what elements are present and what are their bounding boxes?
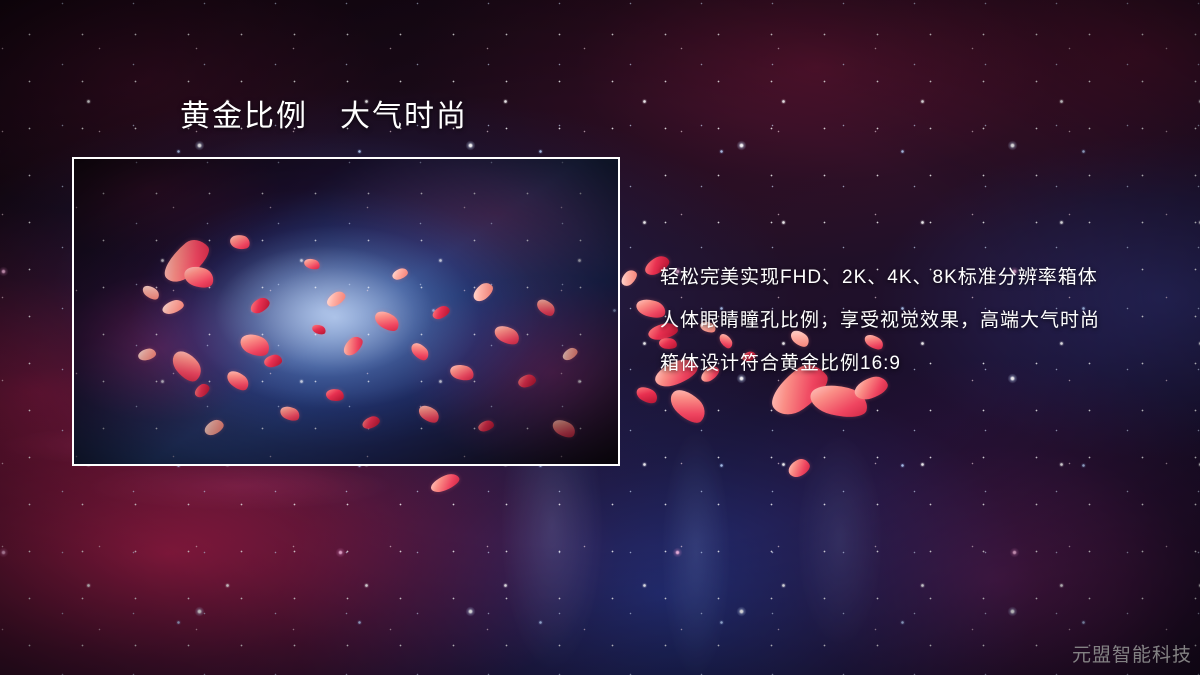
description-text: 轻松完美实现FHD、2K、4K、8K标准分辨率箱体 人体眼睛瞳孔比例，享受视觉效…: [660, 256, 1100, 385]
description-line-2: 人体眼睛瞳孔比例，享受视觉效果，高端大气时尚: [660, 299, 1100, 342]
framed-photo: [72, 157, 620, 466]
watermark-brand: 元盟智能科技: [1072, 640, 1192, 667]
presentation-slide: 黄金比例 大气时尚 轻松完美实现FHD、2K、4K、8K标准分辨率箱体 人体眼睛…: [0, 0, 1200, 675]
photo-vignette: [74, 159, 618, 464]
description-line-1: 轻松完美实现FHD、2K、4K、8K标准分辨率箱体: [660, 256, 1100, 299]
description-line-3: 箱体设计符合黄金比例16:9: [660, 342, 1100, 385]
page-title: 黄金比例 大气时尚: [180, 99, 468, 135]
